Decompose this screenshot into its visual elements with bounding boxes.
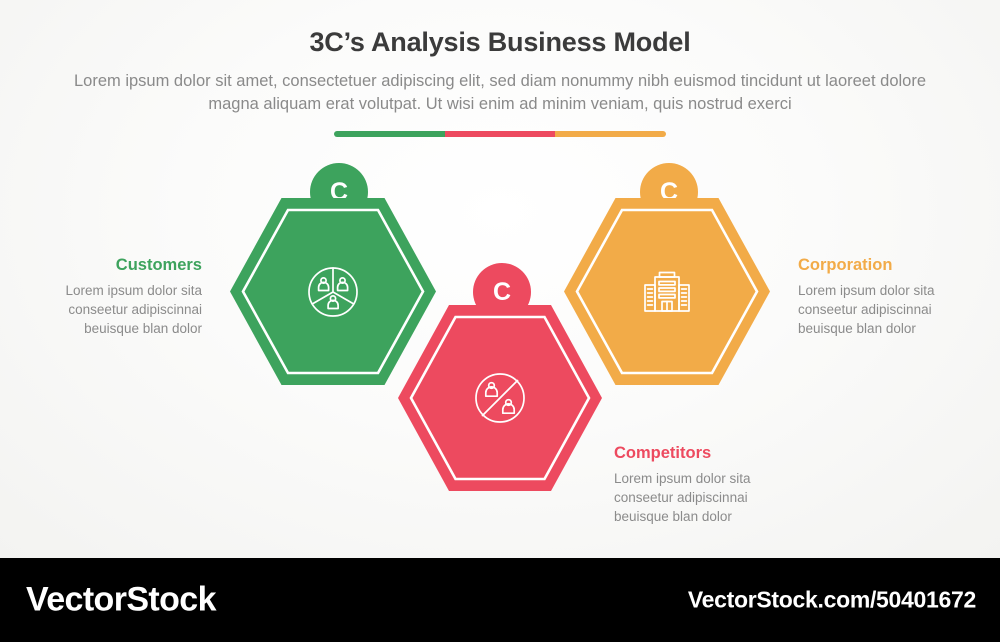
vectorstock-url: VectorStock.com/50401672 [688,587,976,614]
description-customers: Lorem ipsum dolor sita conseetur adipisc… [30,281,202,338]
slide-area: 3C’s Analysis Business Model Lorem ipsum… [0,0,1000,558]
heading-customers: Customers [30,256,202,274]
accent-segment-red [445,131,556,137]
text-block-corporation: Corporation Lorem ipsum dolor sita conse… [798,256,976,338]
node-corporation[interactable]: C [564,163,770,385]
text-block-competitors: Competitors Lorem ipsum dolor sita conse… [614,444,792,526]
badge-letter: C [493,280,511,305]
heading-corporation: Corporation [798,256,976,274]
accent-divider-bar [334,131,666,137]
customer-segments-icon [306,265,360,319]
accent-segment-green [334,131,445,137]
vectorstock-logo: VectorStock [26,581,216,620]
infographic-canvas: 3C’s Analysis Business Model Lorem ipsum… [0,0,1000,642]
office-building-icon [641,266,693,318]
accent-segment-orange [555,131,666,137]
page-title: 3C’s Analysis Business Model [0,27,1000,58]
description-competitors: Lorem ipsum dolor sita conseetur adipisc… [614,469,792,526]
text-block-customers: Customers Lorem ipsum dolor sita conseet… [30,256,202,338]
watermark-footer: VectorStock VectorStock.com/50401672 [0,558,1000,642]
description-corporation: Lorem ipsum dolor sita conseetur adipisc… [798,281,976,338]
competitors-divided-users-icon [473,371,527,425]
heading-competitors: Competitors [614,444,792,462]
page-subtitle: Lorem ipsum dolor sit amet, consectetuer… [60,70,940,116]
